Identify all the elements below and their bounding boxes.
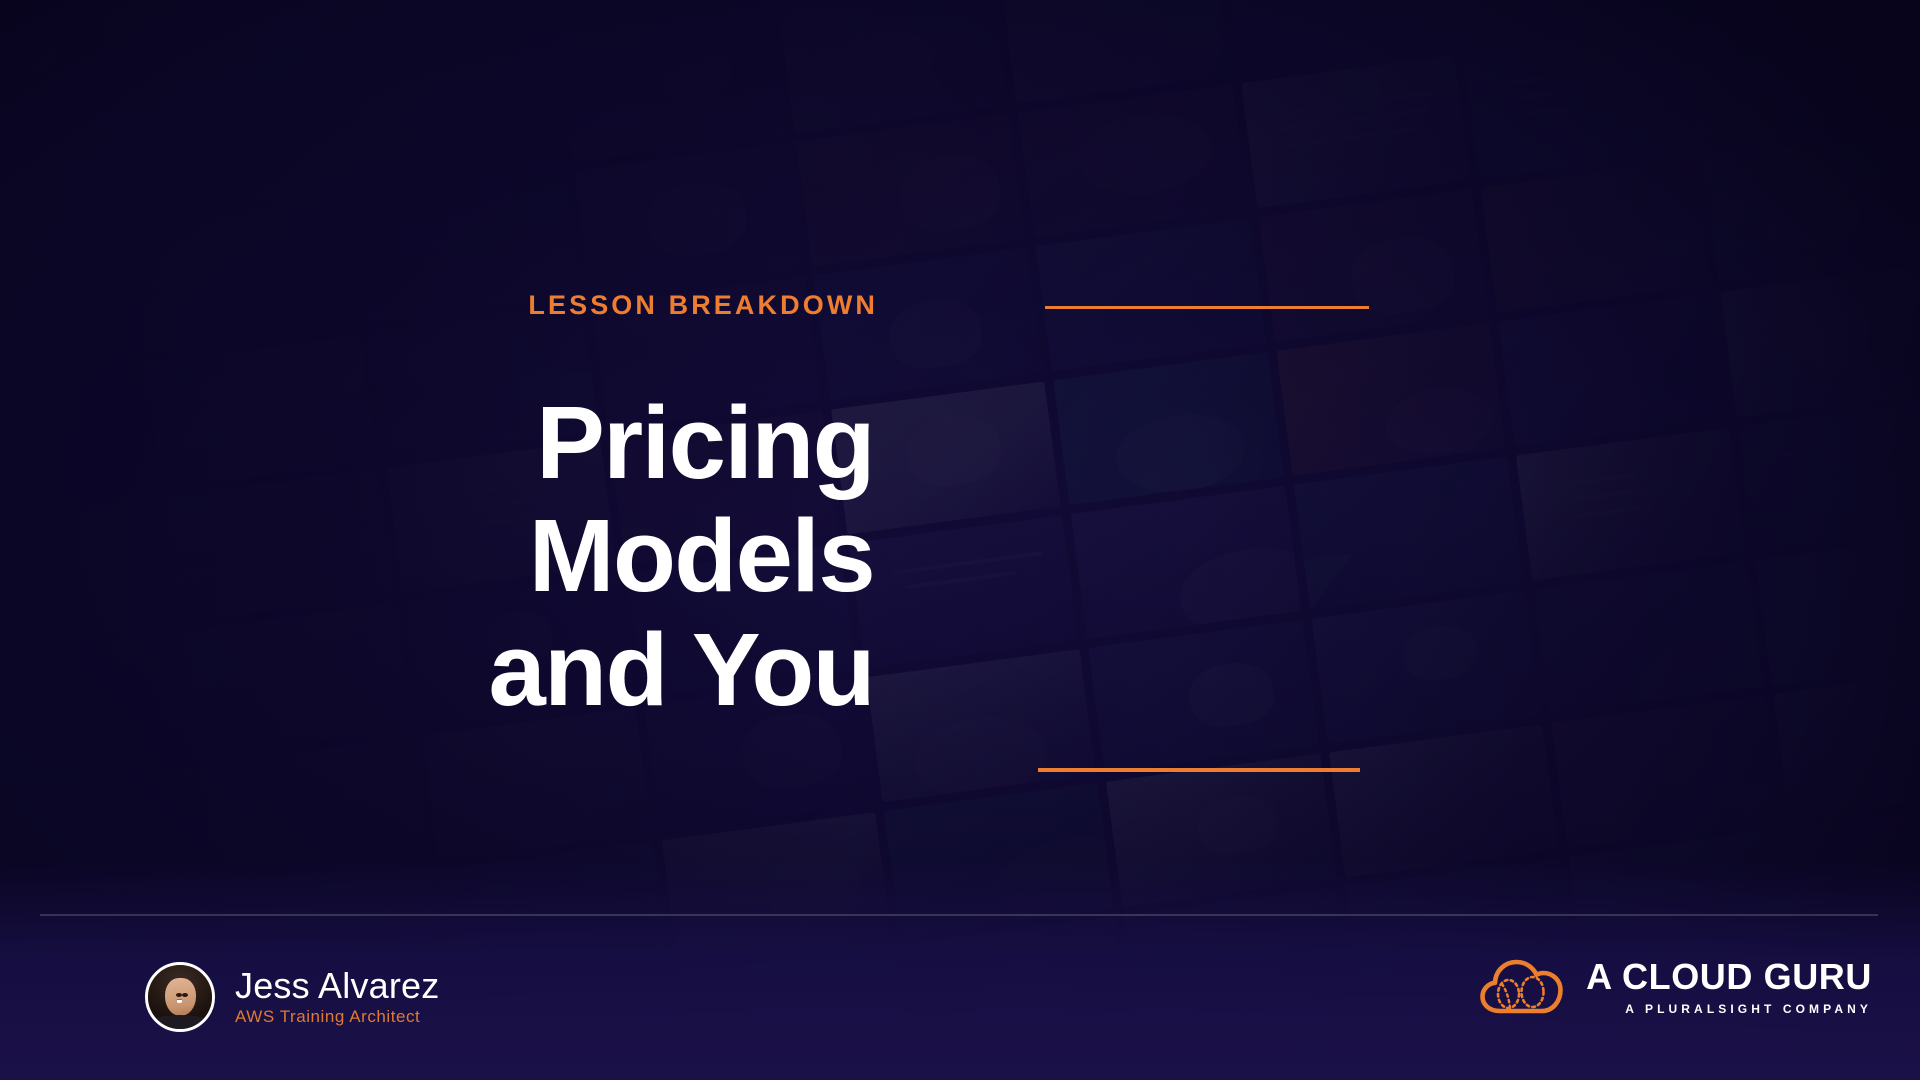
avatar-photo-smile [177, 1000, 183, 1003]
presenter-role: AWS Training Architect [235, 1007, 439, 1027]
avatar-photo-shoulders [145, 1015, 215, 1032]
eyebrow-label: LESSON BREAKDOWN [0, 290, 878, 321]
horizontal-accent-rule-top [1045, 306, 1369, 309]
title-line-3: and You [0, 613, 874, 726]
brand-words: A CLOUD GURU A PLURALSIGHT COMPANY [1586, 959, 1872, 1015]
avatar-photo-eye-left [176, 993, 182, 997]
title-line-1: Pricing [0, 386, 874, 499]
avatar [145, 962, 215, 1032]
page-title: Pricing Models and You [0, 386, 874, 726]
brand-tagline: A PLURALSIGHT COMPANY [1625, 1003, 1872, 1015]
presenter-block: Jess Alvarez AWS Training Architect [145, 962, 439, 1032]
presenter-text: Jess Alvarez AWS Training Architect [235, 967, 439, 1027]
footer-divider [40, 914, 1878, 916]
avatar-photo-face [165, 978, 196, 1016]
slide-root: LESSON BREAKDOWN Pricing Models and You … [0, 0, 1920, 1080]
horizontal-accent-rule-bottom [1038, 768, 1360, 772]
avatar-photo-eye-right [182, 993, 188, 997]
presenter-name: Jess Alvarez [235, 967, 439, 1005]
brand-name: A CLOUD GURU [1586, 959, 1872, 995]
title-line-2: Models [0, 499, 874, 612]
cloud-logo-icon [1480, 958, 1564, 1016]
brand-lockup: A CLOUD GURU A PLURALSIGHT COMPANY [1480, 958, 1872, 1016]
